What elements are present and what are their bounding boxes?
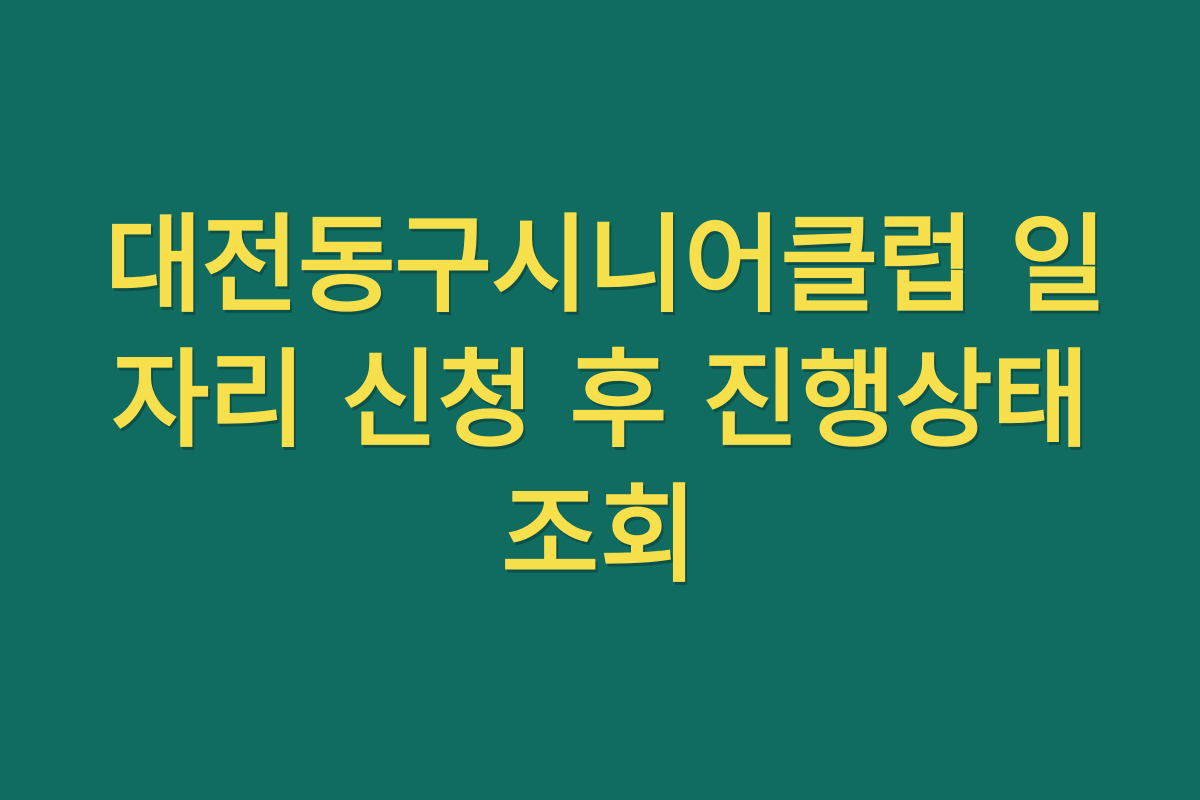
banner-background: 대전동구시니어클럽 일 자리 신청 후 진행상태 조회 <box>0 0 1200 800</box>
page-title: 대전동구시니어클럽 일 자리 신청 후 진행상태 조회 <box>105 198 1095 603</box>
title-line-2: 자리 신청 후 진행상태 <box>105 333 1095 468</box>
title-line-3: 조회 <box>105 468 1095 603</box>
title-line-1: 대전동구시니어클럽 일 <box>105 198 1095 333</box>
